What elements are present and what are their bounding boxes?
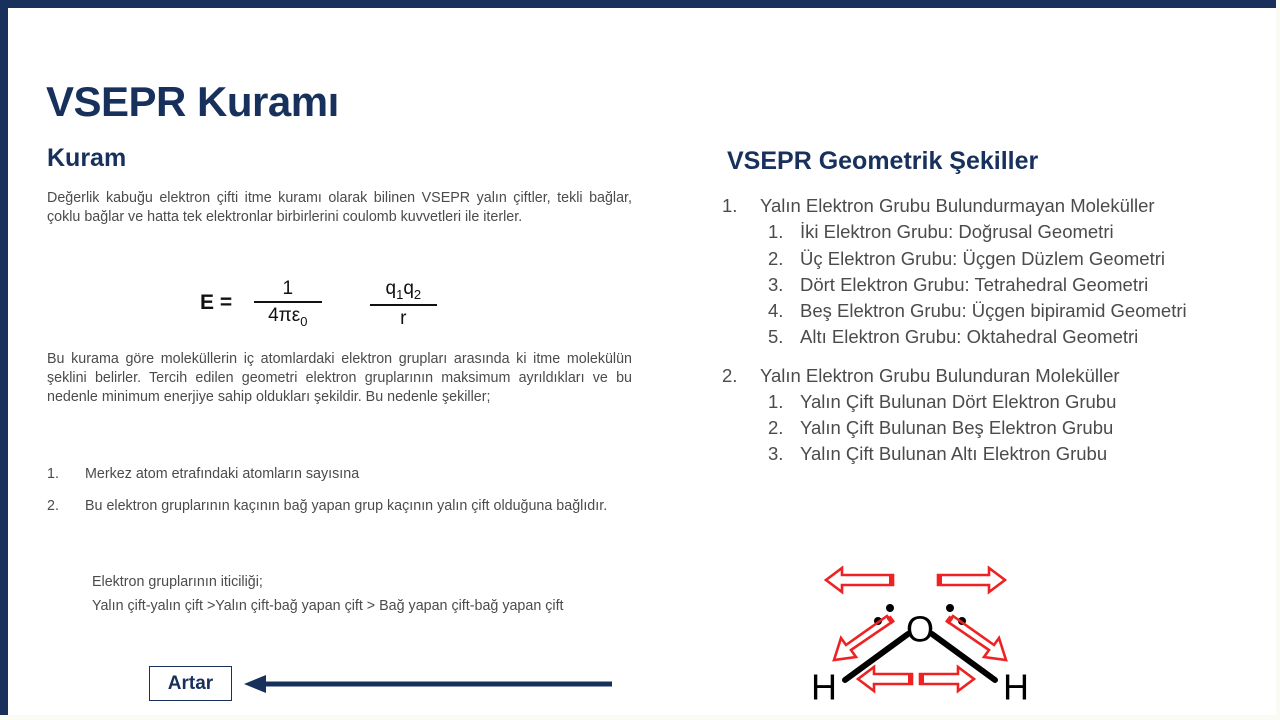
increase-arrow-icon: [240, 668, 615, 700]
paragraph-theory-intro: Değerlik kabuğu elektron çifti itme kura…: [47, 189, 632, 227]
water-molecule-diagram: O H H: [790, 562, 1040, 707]
hydrogen-atom-left-label: H: [811, 667, 837, 707]
svg-text:O: O: [906, 609, 934, 650]
list-marker: 2.: [47, 497, 73, 516]
list-item-group-1: 1. Yalın Elektron Grubu Bulundurmayan Mo…: [722, 193, 1267, 351]
repulsion-order-note: Elektron gruplarının iticiliği; Yalın çi…: [92, 572, 612, 616]
formula-numerator-1: 1: [267, 278, 310, 301]
list-item: 3. Yalın Çift Bulunan Altı Elektron Grub…: [760, 441, 1267, 467]
list-marker: 2.: [768, 415, 794, 441]
list-item-label: Merkez atom etrafındaki atomların sayısı…: [85, 466, 359, 482]
slide-border-bottom: [0, 715, 1280, 720]
left-ordered-list: 1. Merkez atom etrafındaki atomların say…: [47, 465, 632, 529]
svg-text:H: H: [811, 667, 837, 707]
coulomb-energy-formula: E = 1 4πε0 q1q2 r: [200, 278, 437, 330]
formula-fraction-one-over-4pie0: 1 4πε0: [254, 278, 321, 330]
repulsion-arrow-lonepair-right: [938, 568, 1005, 592]
sublist-group-2: 1. Yalın Çift Bulunan Dört Elektron Grub…: [760, 389, 1267, 468]
list-item: 2. Üç Elektron Grubu: Üçgen Düzlem Geome…: [760, 246, 1267, 272]
list-item-label: Bu elektron gruplarının kaçının bağ yapa…: [85, 498, 607, 514]
list-item-label: Altı Elektron Grubu: Oktahedral Geometri: [800, 326, 1138, 347]
list-item: 4. Beş Elektron Grubu: Üçgen bipiramid G…: [760, 298, 1267, 324]
slide-border-top: [0, 0, 1280, 8]
list-item: 1. Merkez atom etrafındaki atomların say…: [47, 465, 632, 484]
formula-fraction-q1q2-over-r: q1q2 r: [370, 278, 438, 330]
svg-text:H: H: [1003, 667, 1029, 707]
repulsion-arrow-bondpair-left: [858, 667, 912, 691]
section-heading-kuram: Kuram: [47, 145, 126, 173]
repulsion-arrow-bondpair-right: [920, 667, 974, 691]
list-item-label: Üç Elektron Grubu: Üçgen Düzlem Geometri: [800, 248, 1165, 269]
list-marker: 1.: [47, 465, 73, 484]
artar-callout-box: Artar: [149, 666, 232, 701]
list-item: 1. İki Elektron Grubu: Doğrusal Geometri: [760, 219, 1267, 245]
list-item: 5. Altı Elektron Grubu: Oktahedral Geome…: [760, 324, 1267, 350]
oxygen-atom-label: O: [906, 609, 934, 650]
formula-denominator-4pie0: 4πε0: [254, 303, 321, 330]
slide-canvas: VSEPR Kuramı Kuram Değerlik kabuğu elekt…: [0, 0, 1280, 720]
note-line-2: Yalın çift-yalın çift >Yalın çift-bağ ya…: [92, 596, 612, 616]
list-item-group-2: 2. Yalın Elektron Grubu Bulunduran Molek…: [722, 363, 1267, 468]
list-item: 2. Bu elektron gruplarının kaçının bağ y…: [47, 497, 632, 516]
list-item-label: Yalın Çift Bulunan Altı Elektron Grubu: [800, 443, 1107, 464]
list-marker: 1.: [768, 219, 794, 245]
list-item: 2. Yalın Çift Bulunan Beş Elektron Grubu: [760, 415, 1267, 441]
list-marker: 2.: [722, 363, 748, 389]
list-item-label: Yalın Elektron Grubu Bulundurmayan Molek…: [760, 195, 1155, 216]
list-item-label: İki Elektron Grubu: Doğrusal Geometri: [800, 221, 1114, 242]
right-column-title: VSEPR Geometrik Şekiller: [727, 147, 1038, 176]
list-marker: 1.: [768, 389, 794, 415]
list-marker: 4.: [768, 298, 794, 324]
formula-lhs: E =: [200, 291, 232, 317]
list-item: 3. Dört Elektron Grubu: Tetrahedral Geom…: [760, 272, 1267, 298]
list-marker: 2.: [768, 246, 794, 272]
list-item-label: Yalın Çift Bulunan Beş Elektron Grubu: [800, 417, 1113, 438]
list-item-label: Beş Elektron Grubu: Üçgen bipiramid Geom…: [800, 300, 1187, 321]
page-title: VSEPR Kuramı: [46, 80, 339, 124]
sublist-group-1: 1. İki Elektron Grubu: Doğrusal Geometri…: [760, 219, 1267, 350]
vsepr-geometry-list: 1. Yalın Elektron Grubu Bulundurmayan Mo…: [722, 193, 1267, 468]
list-marker: 3.: [768, 441, 794, 467]
list-marker: 3.: [768, 272, 794, 298]
formula-denominator-r: r: [386, 306, 420, 330]
list-item: 1. Yalın Çift Bulunan Dört Elektron Grub…: [760, 389, 1267, 415]
list-item-label: Yalın Çift Bulunan Dört Elektron Grubu: [800, 391, 1116, 412]
list-marker: 5.: [768, 324, 794, 350]
repulsion-arrow-lonepair-left: [826, 568, 893, 592]
formula-numerator-q1q2: q1q2: [370, 278, 438, 304]
slide-border-left: [0, 0, 8, 720]
list-item-label: Dört Elektron Grubu: Tetrahedral Geometr…: [800, 274, 1148, 295]
list-item-label: Yalın Elektron Grubu Bulunduran Moleküll…: [760, 365, 1120, 386]
note-line-1: Elektron gruplarının iticiliği;: [92, 572, 612, 592]
hydrogen-atom-right-label: H: [1003, 667, 1029, 707]
slide-border-right: [1276, 0, 1280, 720]
paragraph-geometry-explanation: Bu kurama göre moleküllerin iç atomlarda…: [47, 350, 632, 407]
list-marker: 1.: [722, 193, 748, 219]
